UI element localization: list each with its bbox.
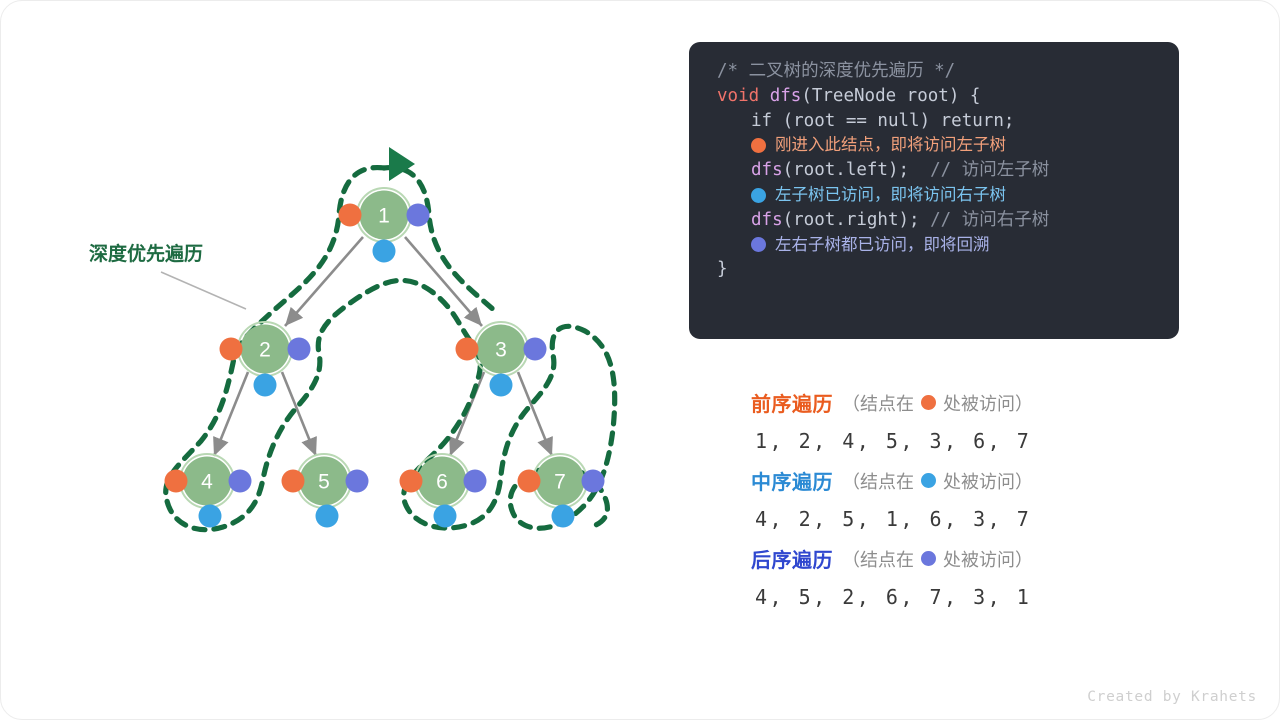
tree-node-7[interactable]: 7: [518, 454, 605, 528]
preorder-dot-icon: [751, 138, 766, 153]
preorder-title: 前序遍历: [751, 388, 833, 417]
postorder-note: （结点在 处被访问）: [842, 546, 1033, 572]
postorder-title: 后序遍历: [751, 544, 833, 573]
dfs-annotation-label: 深度优先遍历: [89, 242, 203, 265]
node-7-pre-dot: [518, 470, 541, 493]
code-close-brace-line: }: [717, 257, 1157, 282]
code-legend-preorder: 刚进入此结点，即将访问左子树: [717, 133, 1157, 158]
code-signature-line: void dfs(TreeNode root) {: [717, 84, 1157, 109]
code-legend-inorder-text: 左子树已访问，即将访问右子树: [775, 183, 1006, 208]
traversal-results: 前序遍历 （结点在 处被访问） 1, 2, 4, 5, 3, 6, 7 中序遍历…: [751, 387, 1171, 621]
node-7-post-dot: [582, 470, 605, 493]
inorder-note: （结点在 处被访问）: [842, 468, 1033, 494]
postorder-sequence: 4, 5, 2, 6, 7, 3, 1: [751, 574, 1171, 621]
node-5-pre-dot: [282, 470, 305, 493]
postorder-note-suffix: 处被访问）: [943, 546, 1033, 572]
node-5-in-dot: [316, 505, 339, 528]
edge-2-4: [214, 372, 248, 456]
preorder-note-prefix: （结点在: [842, 390, 914, 416]
inorder-sequence: 4, 2, 5, 1, 6, 3, 7: [751, 496, 1171, 543]
node-6-post-dot: [464, 470, 487, 493]
code-call-right-comment: // 访问右子树: [930, 210, 1049, 230]
tree-node-3[interactable]: 3: [456, 322, 547, 397]
code-call-right-line: dfs(root.right); // 访问右子树: [717, 208, 1157, 233]
node-2-post-dot: [288, 338, 311, 361]
code-call-left-line: dfs(root.left); // 访问左子树: [717, 158, 1157, 183]
preorder-note-suffix: 处被访问）: [943, 390, 1033, 416]
code-call-right-rest: (root.right);: [783, 210, 920, 230]
node-7-value: 7: [554, 471, 566, 494]
node-4-post-dot: [229, 470, 252, 493]
binary-tree-diagram: 1 2 3: [1, 1, 701, 720]
node-6-value: 6: [436, 471, 448, 494]
node-1-pre-dot: [339, 204, 362, 227]
code-signature-rest: (TreeNode root) {: [801, 86, 980, 106]
inorder-heading: 中序遍历 （结点在 处被访问）: [751, 465, 1171, 496]
code-keyword-void: void: [717, 86, 759, 106]
code-block: /* 二叉树的深度优先遍历 */ void dfs(TreeNode root)…: [689, 42, 1179, 339]
tree-node-5[interactable]: 5: [282, 454, 369, 528]
code-call-left-comment: // 访问左子树: [930, 160, 1049, 180]
node-4-pre-dot: [165, 470, 188, 493]
node-7-in-dot: [552, 505, 575, 528]
node-3-post-dot: [524, 338, 547, 361]
preorder-sequence: 1, 2, 4, 5, 3, 6, 7: [751, 418, 1171, 465]
node-2-pre-dot: [220, 338, 243, 361]
preorder-note-dot-icon: [921, 395, 936, 410]
node-3-in-dot: [490, 374, 513, 397]
postorder-note-dot-icon: [921, 551, 936, 566]
node-2-value: 2: [259, 339, 271, 362]
node-3-pre-dot: [456, 338, 479, 361]
annotation-leader-line: [161, 272, 246, 309]
code-legend-postorder-text: 左右子树都已访问，即将回溯: [775, 233, 990, 258]
node-1-post-dot: [407, 204, 430, 227]
code-null-check-line: if (root == null) return;: [717, 109, 1157, 134]
node-4-in-dot: [199, 505, 222, 528]
node-6-in-dot: [434, 505, 457, 528]
edge-1-2: [285, 237, 363, 326]
code-call-left-rest: (root.left);: [783, 160, 909, 180]
code-legend-preorder-text: 刚进入此结点，即将访问左子树: [775, 133, 1006, 158]
node-4-value: 4: [201, 471, 213, 494]
postorder-note-prefix: （结点在: [842, 546, 914, 572]
tree-node-2[interactable]: 2: [220, 322, 311, 397]
code-fn-dfs-right: dfs: [751, 210, 783, 230]
tree-node-6[interactable]: 6: [400, 454, 487, 528]
inorder-title: 中序遍历: [751, 466, 833, 495]
postorder-heading: 后序遍历 （结点在 处被访问）: [751, 543, 1171, 574]
node-1-value: 1: [378, 205, 390, 228]
node-5-post-dot: [346, 470, 369, 493]
node-2-in-dot: [254, 374, 277, 397]
code-fn-dfs: dfs: [770, 86, 802, 106]
code-comment-line: /* 二叉树的深度优先遍历 */: [717, 59, 1157, 84]
inorder-note-dot-icon: [921, 473, 936, 488]
page-frame: 1 2 3: [0, 0, 1280, 720]
node-6-pre-dot: [400, 470, 423, 493]
node-5-value: 5: [318, 471, 330, 494]
diagram-canvas: 1 2 3: [1, 1, 1279, 719]
code-fn-dfs-left: dfs: [751, 160, 783, 180]
preorder-note: （结点在 处被访问）: [842, 390, 1033, 416]
code-legend-postorder: 左右子树都已访问，即将回溯: [717, 233, 1157, 258]
node-1-in-dot: [373, 240, 396, 263]
inorder-note-prefix: （结点在: [842, 468, 914, 494]
node-3-value: 3: [495, 339, 507, 362]
dfs-path-start-right: [384, 168, 495, 311]
preorder-heading: 前序遍历 （结点在 处被访问）: [751, 387, 1171, 418]
inorder-dot-icon: [751, 188, 766, 203]
postorder-dot-icon: [751, 237, 766, 252]
code-legend-inorder: 左子树已访问，即将访问右子树: [717, 183, 1157, 208]
edge-3-6: [450, 372, 484, 456]
watermark-credit: Created by Krahets: [1087, 689, 1257, 705]
inorder-note-suffix: 处被访问）: [943, 468, 1033, 494]
